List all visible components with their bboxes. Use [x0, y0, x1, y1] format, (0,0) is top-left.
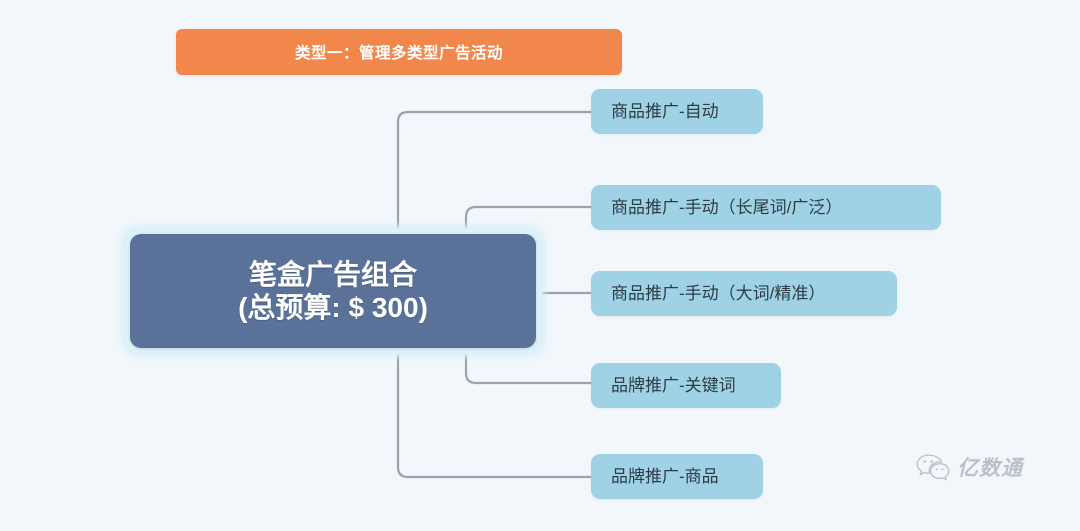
connector-leaf-5	[398, 467, 591, 477]
root-node-title: 笔盒广告组合	[249, 258, 417, 291]
leaf-node-2-label: 商品推广-手动（长尾词/广泛）	[591, 199, 862, 216]
leaf-node-3-label: 商品推广-手动（大词/精准）	[591, 285, 845, 302]
leaf-node-4-label: 品牌推广-关键词	[591, 377, 756, 394]
root-node-budget: (总预算: $ 300)	[238, 291, 428, 324]
wechat-icon	[916, 453, 950, 481]
leaf-node-4[interactable]: 品牌推广-关键词	[591, 363, 781, 408]
diagram-canvas: 类型一：管理多类型广告活动 笔盒广告组合 (总预算: $ 300) 商品推广-自…	[0, 0, 1080, 531]
watermark: 亿数通	[916, 452, 1023, 482]
leaf-node-1[interactable]: 商品推广-自动	[591, 89, 763, 134]
connector-leaf-4	[466, 373, 591, 383]
leaf-node-5-label: 品牌推广-商品	[591, 468, 739, 485]
root-node[interactable]: 笔盒广告组合 (总预算: $ 300)	[130, 234, 536, 348]
leaf-node-1-label: 商品推广-自动	[591, 103, 739, 120]
leaf-node-2[interactable]: 商品推广-手动（长尾词/广泛）	[591, 185, 941, 230]
root-node-halo: 笔盒广告组合 (总预算: $ 300)	[124, 228, 542, 354]
banner-type-one: 类型一：管理多类型广告活动	[176, 29, 622, 75]
leaf-node-3[interactable]: 商品推广-手动（大词/精准）	[591, 271, 897, 316]
watermark-label: 亿数通	[957, 452, 1023, 482]
banner-label: 类型一：管理多类型广告活动	[295, 41, 503, 63]
leaf-node-5[interactable]: 品牌推广-商品	[591, 454, 763, 499]
